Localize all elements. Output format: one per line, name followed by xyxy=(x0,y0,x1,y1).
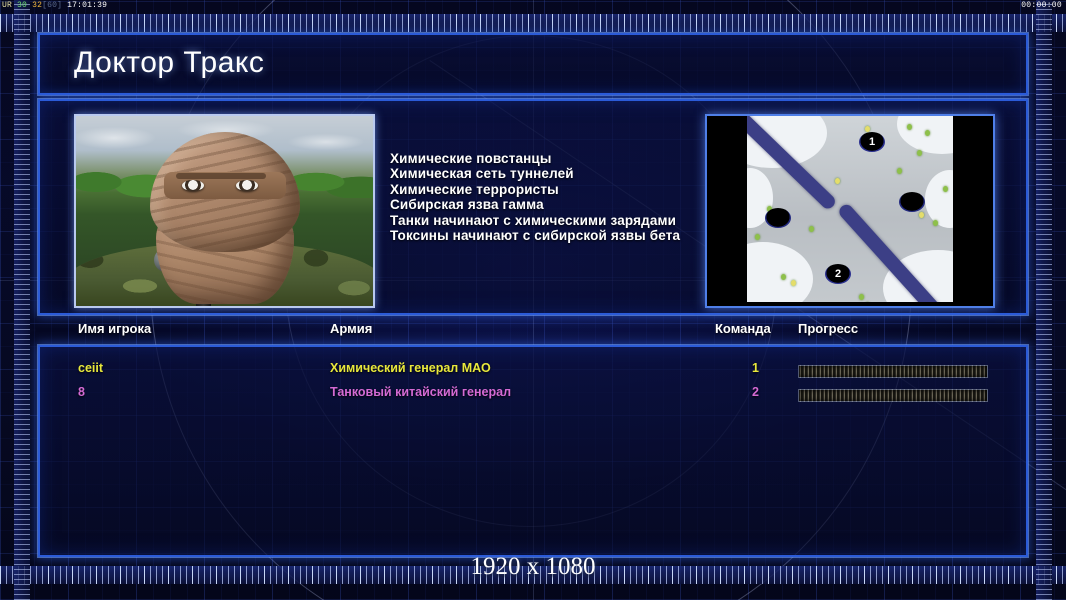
general-portrait xyxy=(74,114,375,308)
minimap-foliage xyxy=(791,280,796,286)
minimap-snow xyxy=(747,242,813,302)
hud-left-value-1: 30 xyxy=(17,1,27,10)
description-line: Танки начинают с химическими зарядами xyxy=(390,213,720,228)
minimap-terrain: 12 xyxy=(747,116,953,302)
minimap-foliage xyxy=(943,186,948,192)
portrait-eye-left xyxy=(182,180,204,191)
hud-left-label: UR xyxy=(2,1,12,10)
player-progress-cell xyxy=(798,385,988,398)
minimap-foliage xyxy=(933,220,938,226)
minimap-foliage xyxy=(809,226,814,232)
player-army: Танковый китайский генерал xyxy=(330,385,511,399)
player-progress-cell xyxy=(798,361,988,374)
player-army: Химический генерал МАО xyxy=(330,361,491,375)
ruler-right xyxy=(1036,0,1052,600)
column-header-name[interactable]: Имя игрока xyxy=(78,321,151,336)
minimap-foliage xyxy=(925,130,930,136)
hud-timer: 00:00:00 xyxy=(1021,1,1062,10)
player-team: 2 xyxy=(735,385,759,399)
ruler-left-ticks xyxy=(14,0,30,600)
description-line: Токсины начинают с сибирской язвы бета xyxy=(390,228,720,243)
description-line: Химические повстанцы xyxy=(390,151,720,166)
portrait-eye-right xyxy=(236,180,258,191)
page-title: Доктор Тракс xyxy=(74,46,264,80)
hud-clock: 17:01:39 xyxy=(67,1,107,10)
description-line: Химические террористы xyxy=(390,182,720,197)
ruler-top-ticks xyxy=(0,14,1066,32)
game-screen: UR 30 32[60] 17:01:39 00:00:00 Доктор Тр… xyxy=(0,0,1066,600)
player-name: 8 xyxy=(78,385,85,399)
minimap-foliage xyxy=(919,212,924,218)
player-row[interactable]: 8Танковый китайский генерал2 xyxy=(78,385,1008,409)
player-name: ceiit xyxy=(78,361,103,375)
ruler-top xyxy=(0,14,1066,32)
ruler-top-ticks-major xyxy=(0,14,1066,32)
map-description: Химические повстанцыХимическая сеть тунн… xyxy=(390,151,720,243)
minimap-letterbox-left xyxy=(707,116,747,306)
description-line: Химическая сеть туннелей xyxy=(390,166,720,181)
portrait-image xyxy=(76,116,373,306)
hud-debug-readout: UR 30 32[60] 17:01:39 xyxy=(2,1,107,10)
minimap-foliage xyxy=(781,274,786,280)
column-header-army[interactable]: Армия xyxy=(330,321,372,336)
window-titlebar: Доктор Тракс xyxy=(38,33,1028,95)
player-progress-bar xyxy=(798,389,988,402)
player-list-panel: Имя игрокаАрмияКомандаПрогресс ceiitХими… xyxy=(38,345,1028,557)
player-row[interactable]: ceiitХимический генерал МАО1 xyxy=(78,361,1008,385)
map-info-panel: Химические повстанцыХимическая сеть тунн… xyxy=(38,99,1028,315)
minimap-start-position[interactable]: 2 xyxy=(825,264,851,284)
minimap-foliage xyxy=(897,168,902,174)
minimap-foliage xyxy=(859,294,864,300)
portrait-brow xyxy=(176,173,266,179)
map-preview-window: Доктор Тракс xyxy=(38,33,1028,555)
player-team: 1 xyxy=(735,361,759,375)
hud-left-value-3: [60] xyxy=(42,1,62,10)
minimap-snow xyxy=(925,170,953,228)
minimap-foliage xyxy=(907,124,912,130)
player-progress-bar xyxy=(798,365,988,378)
minimap-foliage xyxy=(755,234,760,240)
minimap-preview: 12 xyxy=(705,114,995,308)
minimap-start-position[interactable]: 1 xyxy=(859,132,885,152)
column-header-progress[interactable]: Прогресс xyxy=(798,321,858,336)
ruler-right-ticks xyxy=(1036,0,1052,600)
column-header-team[interactable]: Команда xyxy=(715,321,771,336)
description-line: Сибирская язва гамма xyxy=(390,197,720,212)
hud-left-value-2: 32 xyxy=(32,1,42,10)
minimap-foliage xyxy=(917,150,922,156)
minimap-letterbox-right xyxy=(953,116,993,306)
player-list-rows: ceiitХимический генерал МАО18Танковый ки… xyxy=(78,361,1008,409)
minimap-start-position[interactable] xyxy=(899,192,925,212)
minimap-foliage xyxy=(835,178,840,184)
ruler-left xyxy=(14,0,30,600)
player-list-header: Имя игрокаАрмияКомандаПрогресс xyxy=(78,321,1018,341)
resolution-label: 1920 x 1080 xyxy=(0,553,1066,581)
minimap-start-position[interactable] xyxy=(765,208,791,228)
